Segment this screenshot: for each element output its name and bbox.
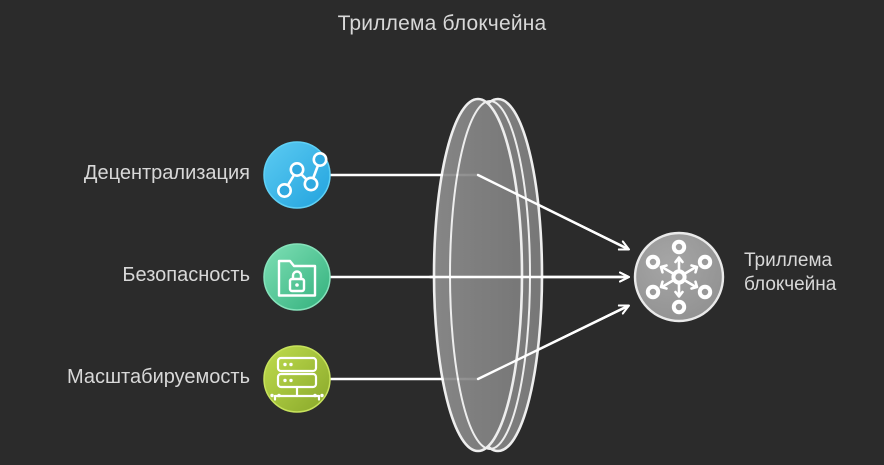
node-decentralization[interactable] [264, 142, 330, 208]
node-security[interactable] [264, 244, 330, 310]
diagram-graphics [0, 0, 884, 465]
diagram-canvas: Триллема блокчейна [0, 0, 884, 465]
node-trilemma[interactable] [635, 233, 723, 321]
label-trilemma-line2: блокчейна [744, 273, 884, 297]
blockchain-lens [434, 99, 542, 451]
label-decentralization: Децентрализация [0, 162, 250, 185]
node-scalability[interactable] [264, 346, 330, 412]
label-security: Безопасность [0, 264, 250, 287]
label-trilemma: Триллема блокчейна [744, 249, 884, 297]
label-scalability: Масштабируемость [0, 366, 250, 389]
label-trilemma-line1: Триллема [744, 249, 884, 273]
